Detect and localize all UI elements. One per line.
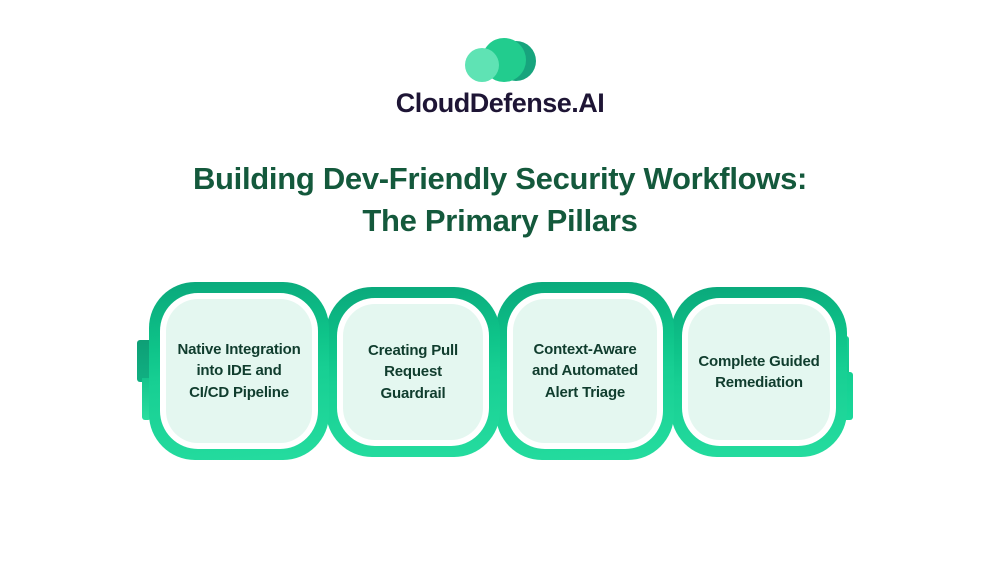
pillar-card-4[interactable]: Complete Guided Remediation	[671, 287, 847, 457]
pillar-card-group: Native Integration into IDE and CI/CD Pi…	[0, 0, 1000, 583]
pillar-label-4: Complete Guided Remediation	[698, 351, 820, 394]
pillar-panel-2: Creating Pull Request Guardrail	[343, 304, 483, 440]
pillar-panel-3: Context-Aware and Automated Alert Triage	[513, 299, 657, 443]
pillar-label-2: Creating Pull Request Guardrail	[353, 340, 473, 404]
pillar-panel-1: Native Integration into IDE and CI/CD Pi…	[166, 299, 312, 443]
pillar-panel-4: Complete Guided Remediation	[688, 304, 830, 440]
infographic-canvas: CloudDefense.AI Building Dev-Friendly Se…	[0, 0, 1000, 583]
pillar-label-3: Context-Aware and Automated Alert Triage	[523, 339, 647, 403]
pillar-label-1: Native Integration into IDE and CI/CD Pi…	[176, 339, 302, 403]
pillar-card-3[interactable]: Context-Aware and Automated Alert Triage	[496, 282, 674, 460]
pillar-card-2[interactable]: Creating Pull Request Guardrail	[326, 287, 500, 457]
pillar-card-1[interactable]: Native Integration into IDE and CI/CD Pi…	[149, 282, 329, 460]
